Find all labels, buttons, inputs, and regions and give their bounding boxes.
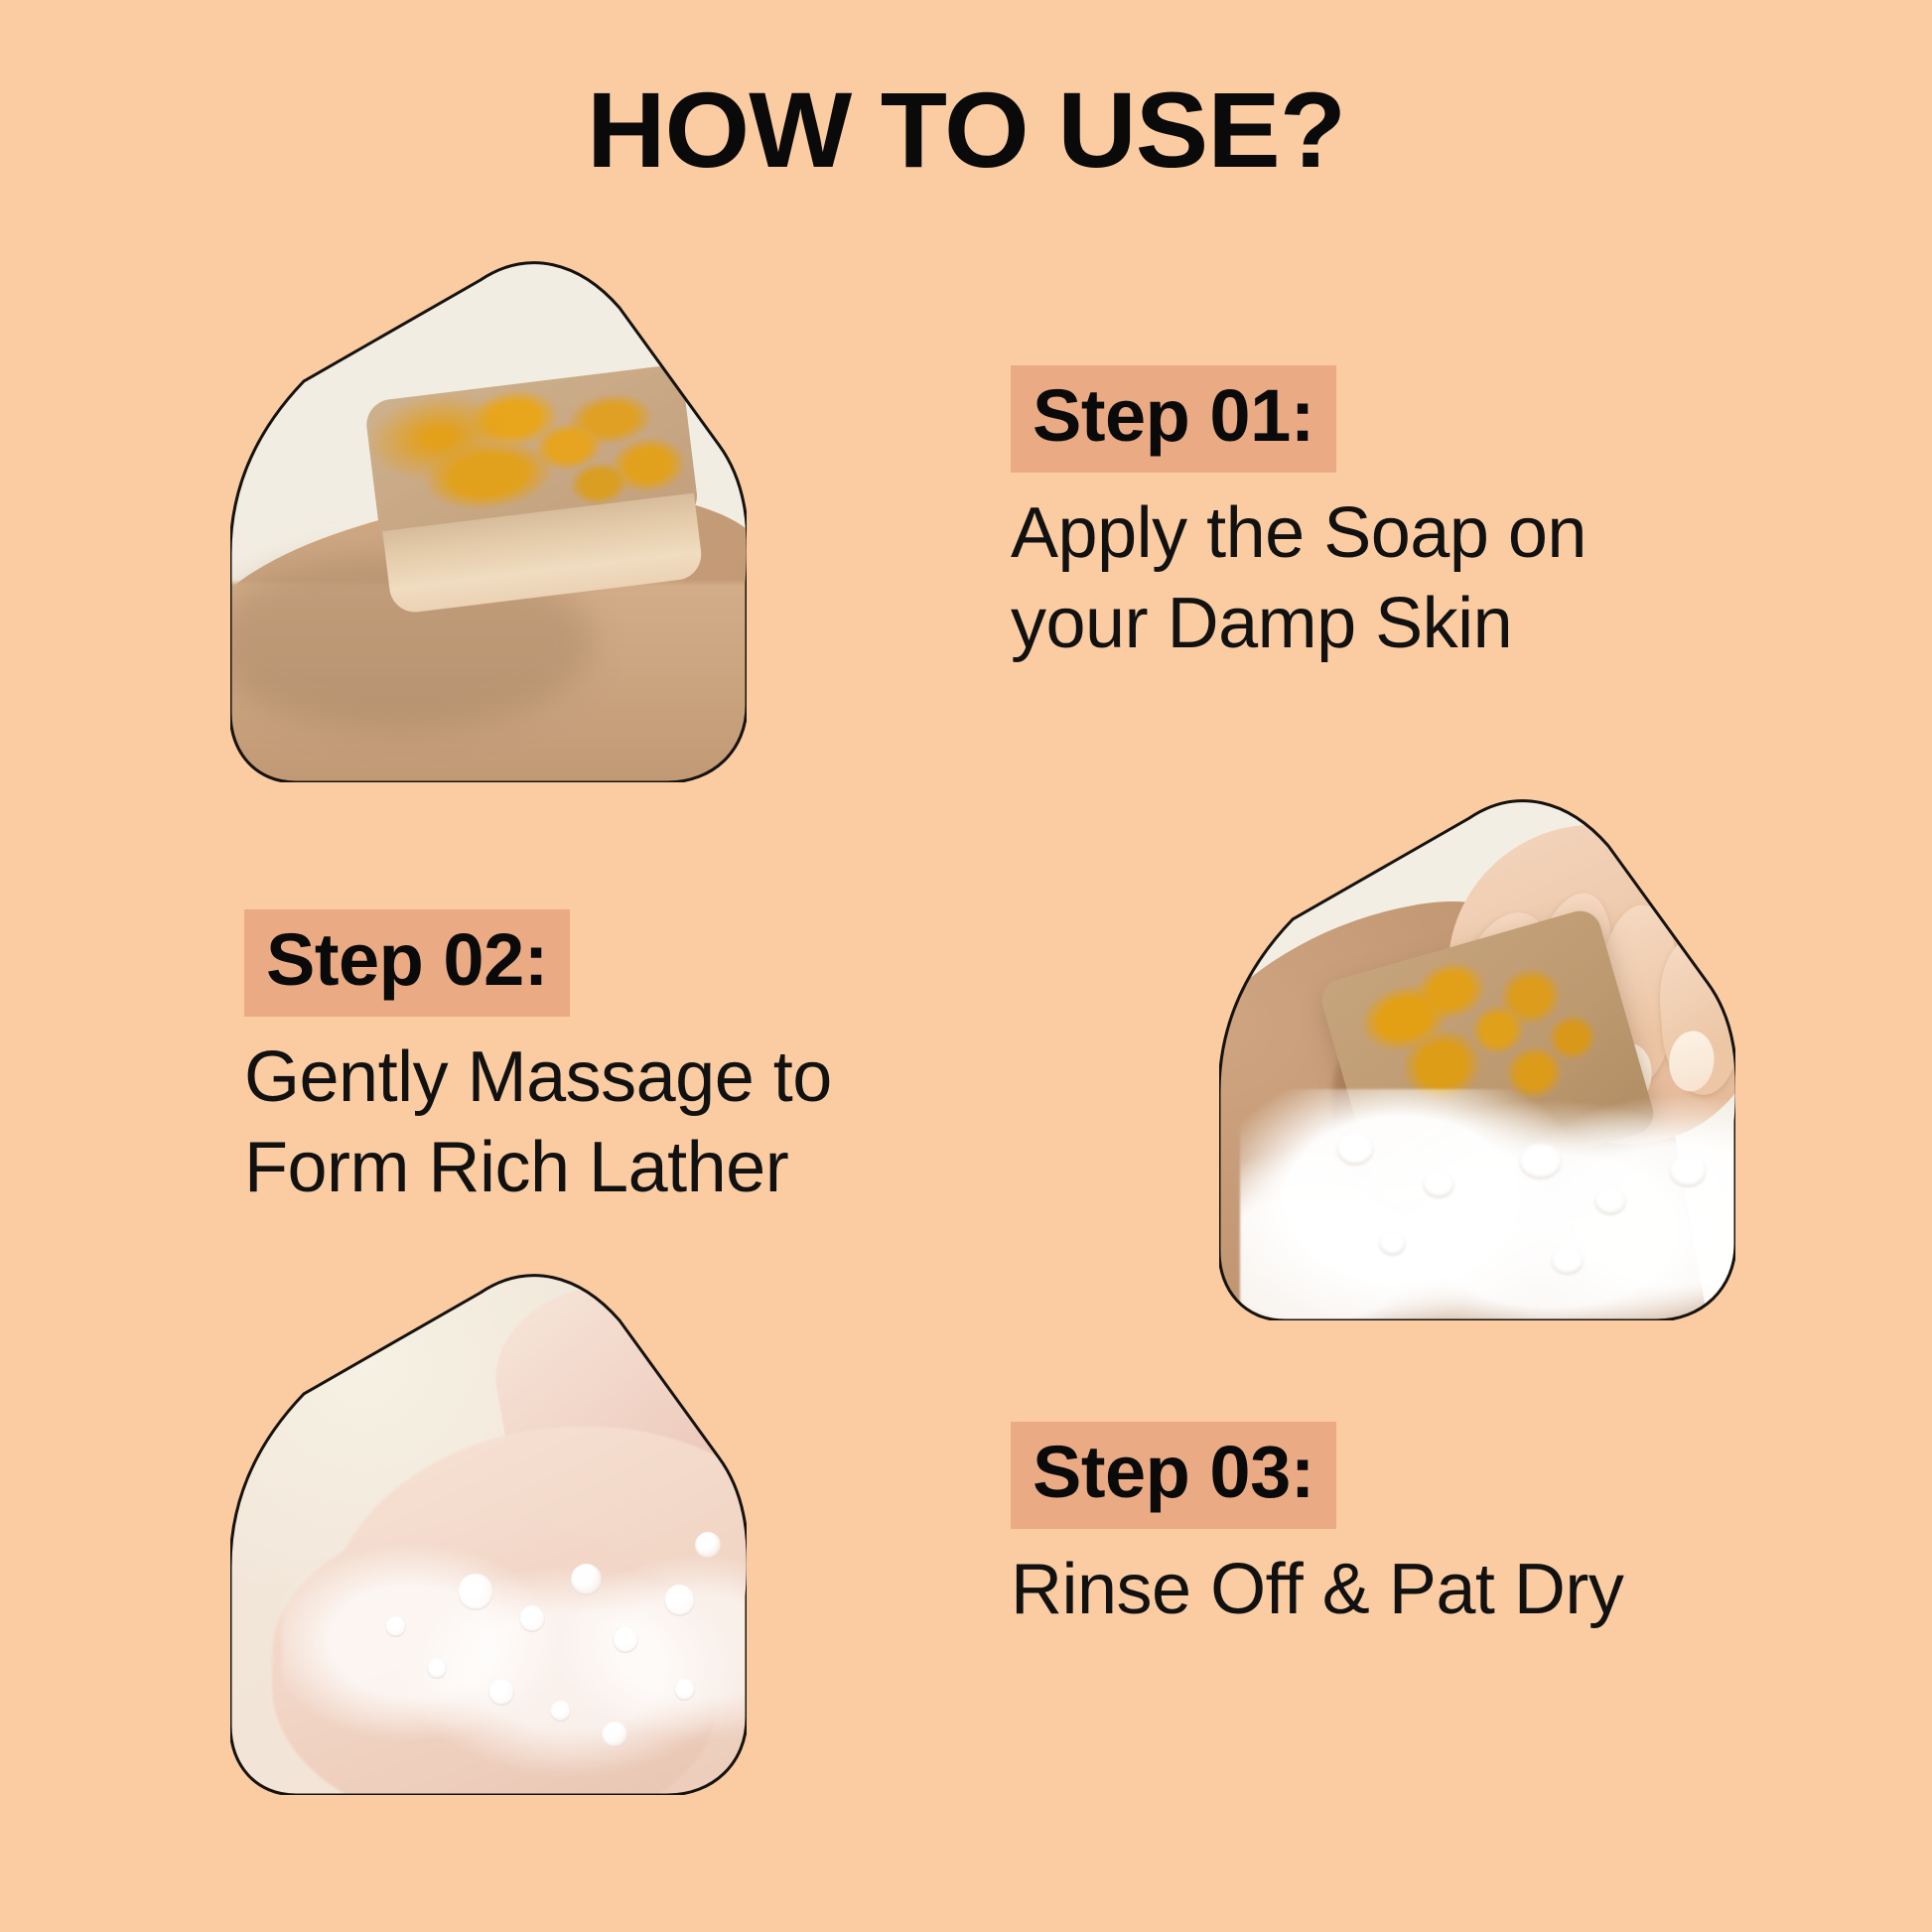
- lather-bubble: [613, 1626, 638, 1653]
- lather-bubble: [385, 1616, 406, 1637]
- foam-bubble: [1594, 1187, 1626, 1215]
- lather-bubble: [664, 1585, 695, 1616]
- step-01-body: Apply the Soap on your Damp Skin: [1011, 488, 1765, 668]
- step-01-text-block: Step 01: Apply the Soap on your Damp Ski…: [1011, 365, 1765, 668]
- foam-bubble: [1669, 1155, 1707, 1187]
- photo-hand-soap-foam: [1219, 794, 1735, 1320]
- lather-bubble: [695, 1532, 721, 1559]
- step-02-body: Gently Massage to Form Rich Lather: [244, 1033, 999, 1212]
- page-title: HOW TO USE?: [0, 73, 1932, 186]
- lather-bubble: [519, 1605, 545, 1632]
- step-02-tag: Step 02:: [244, 909, 570, 1017]
- soap-bar: [363, 363, 707, 612]
- foam-bubble: [1336, 1133, 1374, 1166]
- foam-bubble: [1379, 1231, 1406, 1256]
- step-01-tag: Step 01:: [1011, 365, 1336, 473]
- foam-bubble: [1423, 1171, 1454, 1198]
- lather-bubble: [674, 1679, 695, 1700]
- foam-mass: [1240, 1089, 1735, 1320]
- fingernail-2: [685, 1356, 733, 1403]
- step-02-text-block: Step 02: Gently Massage to Form Rich Lat…: [244, 909, 999, 1212]
- photo-lathered-hands: [230, 1269, 747, 1795]
- step-03-body: Rinse Off & Pat Dry: [1011, 1545, 1805, 1635]
- foam-bubble: [1519, 1144, 1562, 1179]
- step-03-text-block: Step 03: Rinse Off & Pat Dry: [1011, 1422, 1805, 1635]
- foam-bubble: [1551, 1248, 1583, 1276]
- lather-bubble: [488, 1679, 514, 1706]
- photo-soap-on-skin: [230, 256, 747, 782]
- lather-bubble: [550, 1701, 571, 1722]
- fingernail-1: [640, 1325, 692, 1375]
- step-01-image: [230, 256, 747, 782]
- infographic-canvas: HOW TO USE?: [0, 0, 1932, 1932]
- lather-layer: [282, 1500, 747, 1795]
- step-03-tag: Step 03:: [1011, 1422, 1336, 1529]
- step-03-image: [230, 1269, 747, 1795]
- step-02-image: [1219, 794, 1735, 1320]
- fingernail-3: [720, 1393, 747, 1437]
- lather-bubble: [571, 1564, 602, 1595]
